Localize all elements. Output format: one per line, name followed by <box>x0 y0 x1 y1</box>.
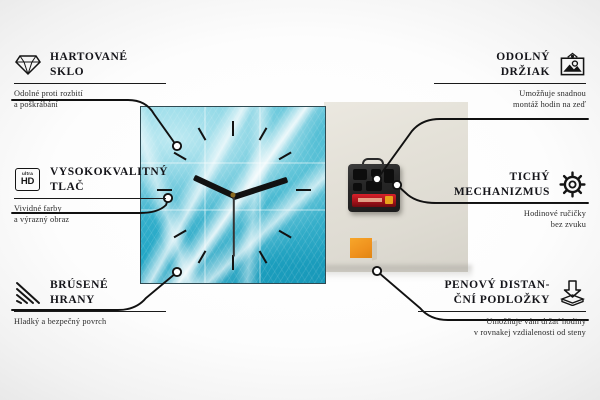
feature-title: TICHÝ MECHANIZMUS <box>434 170 550 199</box>
divider <box>434 203 586 204</box>
feature-description: Umožňuje snadnou montáž hodin na zeď <box>434 88 586 110</box>
divider <box>434 83 586 84</box>
feature-description: Hladký a bezpečný povrch <box>14 316 166 327</box>
feature-foam-spacers: PENOVÝ DISTAN- ČNÍ PODLOŽKY Umožňuje vám… <box>418 278 586 338</box>
feature-durable-hanger: ODOLNÝ DRŽIAK Umožňuje snadnou montáž ho… <box>434 50 586 110</box>
feature-description: Umožňuje vám držať hodiny v rovnakej vzd… <box>418 316 586 338</box>
brushed-edges-icon <box>14 279 41 306</box>
product-infographic: HARTOVANÉ SKLO Odolné proti rozbití a po… <box>0 0 600 400</box>
press-down-arrow-icon <box>559 279 586 306</box>
connector-dot <box>393 181 401 189</box>
diamond-icon <box>14 51 41 78</box>
divider <box>14 198 166 199</box>
gear-icon <box>559 171 586 198</box>
feature-description: Vividné farby a výrazný obraz <box>14 203 166 225</box>
divider <box>14 311 166 312</box>
feature-title: ODOLNÝ DRŽIAK <box>434 50 550 79</box>
feature-polished-edges: BRÚSENÉ HRANY Hladký a bezpečný povrch <box>14 278 166 327</box>
feature-title: HARTOVANÉ SKLO <box>50 50 166 79</box>
divider <box>14 83 166 84</box>
connector-dot <box>373 267 381 275</box>
divider <box>418 311 586 312</box>
connector-dot <box>173 142 181 150</box>
feature-title: PENOVÝ DISTAN- ČNÍ PODLOŽKY <box>418 278 550 307</box>
feature-tempered-glass: HARTOVANÉ SKLO Odolné proti rozbití a po… <box>14 50 166 110</box>
feature-silent-mechanism: TICHÝ MECHANIZMUS Hodinové ručičky bez z… <box>434 170 586 230</box>
hd-main-label: HD <box>21 177 34 187</box>
feature-high-quality-print: ultra HD VYSOKOKVALITNÝ TLAČ Vividné far… <box>14 165 166 225</box>
ultra-hd-icon: ultra HD <box>14 166 41 193</box>
picture-frame-hanger-icon <box>559 51 586 78</box>
feature-title: VYSOKOKVALITNÝ TLAČ <box>50 165 168 194</box>
connector-dot <box>173 268 181 276</box>
feature-title: BRÚSENÉ HRANY <box>50 278 166 307</box>
feature-description: Hodinové ručičky bez zvuku <box>434 208 586 230</box>
feature-description: Odolné proti rozbití a poškrábání <box>14 88 166 110</box>
connector-dot <box>373 175 381 183</box>
